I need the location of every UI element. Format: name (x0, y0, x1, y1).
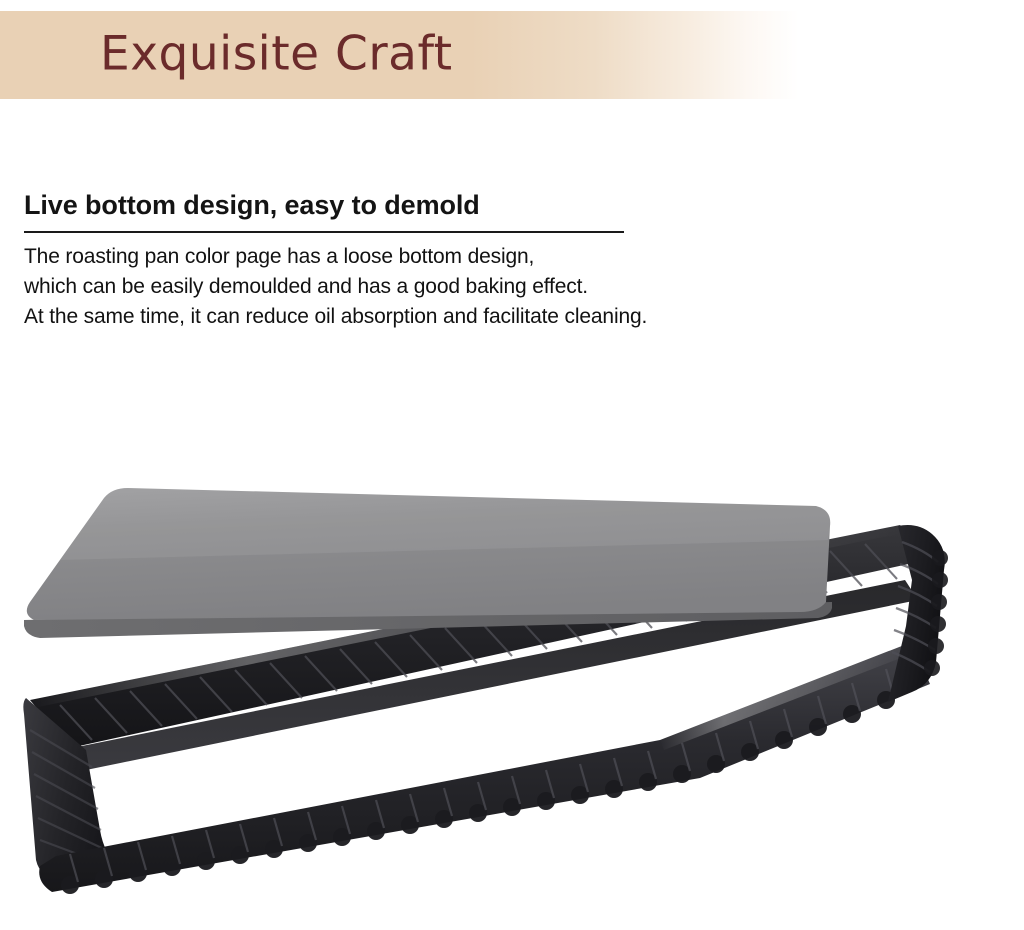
loose-bottom-plate (24, 488, 832, 638)
description-line-1: The roasting pan color page has a loose … (24, 242, 944, 272)
header-banner: Exquisite Craft (0, 11, 1024, 99)
feature-headline: Live bottom design, easy to demold (24, 190, 944, 221)
headline-divider (24, 231, 624, 233)
product-photo (0, 430, 1024, 930)
description-line-3: At the same time, it can reduce oil abso… (24, 302, 944, 332)
feature-description: The roasting pan color page has a loose … (24, 242, 944, 331)
banner-title: Exquisite Craft (100, 31, 453, 78)
feature-text-block: Live bottom design, easy to demold The r… (24, 190, 944, 331)
tart-pan-illustration (0, 430, 1024, 930)
description-line-2: which can be easily demoulded and has a … (24, 272, 944, 302)
